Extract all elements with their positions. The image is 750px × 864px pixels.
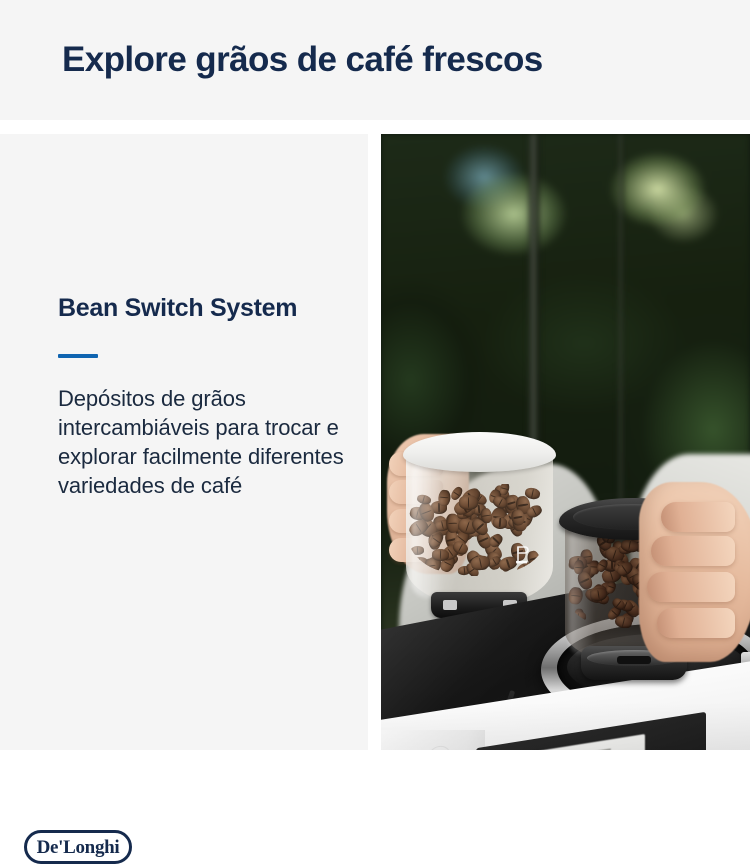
hopper-light-lid — [403, 432, 556, 472]
bean-hopper-icon — [515, 544, 531, 566]
hopper-light-latch-left — [443, 600, 457, 610]
hand-right-fingers — [643, 500, 735, 650]
product-photo — [381, 134, 750, 750]
page-title: Explore grãos de café frescos — [0, 41, 543, 79]
left-content-panel: Bean Switch System Depósitos de grãos in… — [0, 134, 368, 750]
hopper-dark-collar-slot — [617, 656, 651, 664]
header-divider — [0, 120, 750, 134]
feature-description: Depósitos de grãos intercambiáveis para … — [58, 384, 348, 500]
bean-hopper-light — [403, 432, 556, 610]
header-band: Explore grãos de café frescos — [0, 0, 750, 120]
accent-divider — [58, 354, 98, 358]
delonghi-logo: De'Longhi — [24, 830, 132, 864]
hopper-light-highlight — [411, 458, 445, 598]
photo-bottom-shading — [381, 702, 750, 750]
feature-title: Bean Switch System — [58, 294, 348, 324]
feature-copy-block: Bean Switch System Depósitos de grãos in… — [58, 294, 348, 500]
hopper-dark-highlight — [569, 526, 595, 654]
promo-card: Explore grãos de café frescos Bean Switc… — [0, 0, 750, 750]
delonghi-logo-text: De'Longhi — [37, 838, 120, 857]
